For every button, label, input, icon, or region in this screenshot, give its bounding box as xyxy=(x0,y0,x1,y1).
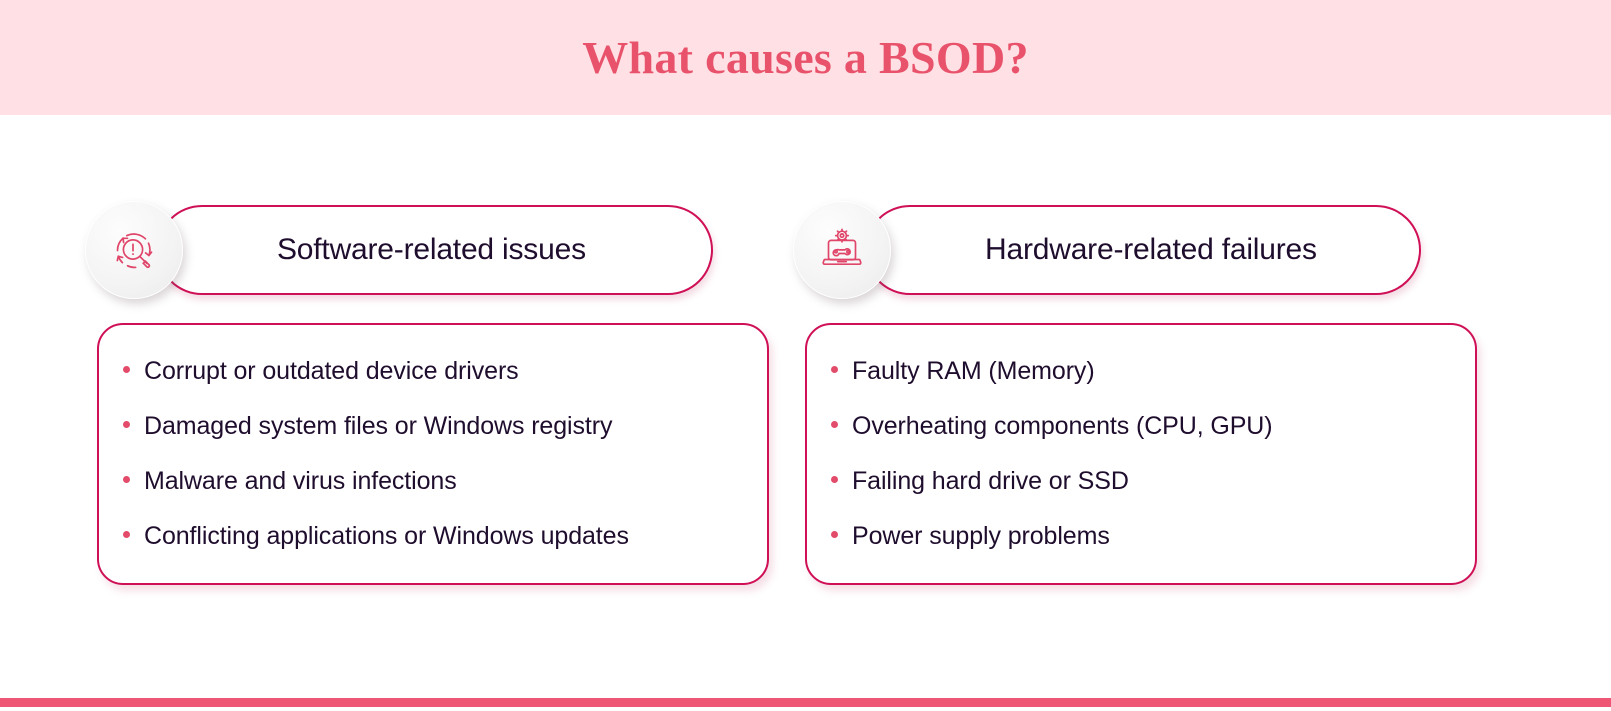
bullet-dot-icon xyxy=(831,366,838,373)
list-item: Damaged system files or Windows registry xyxy=(123,414,733,439)
list-item-label: Overheating components (CPU, GPU) xyxy=(852,414,1272,439)
bottom-accent-bar xyxy=(0,698,1611,707)
causes-list-software: Corrupt or outdated device drivers Damag… xyxy=(123,359,733,549)
list-item: Faulty RAM (Memory) xyxy=(831,359,1441,384)
list-item: Corrupt or outdated device drivers xyxy=(123,359,733,384)
laptop-wrench-gear-icon xyxy=(793,201,891,299)
header-band: What causes a BSOD? xyxy=(0,0,1611,115)
column-hardware: Hardware-related failures Faulty RAM (Me… xyxy=(793,115,1513,585)
bullet-dot-icon xyxy=(123,366,130,373)
causes-card-hardware: Faulty RAM (Memory) Overheating componen… xyxy=(805,323,1477,585)
list-item-label: Conflicting applications or Windows upda… xyxy=(144,524,629,549)
infographic-canvas: What causes a BSOD? xyxy=(0,0,1611,711)
bullet-dot-icon xyxy=(123,421,130,428)
columns-container: Software-related issues Corrupt or outda… xyxy=(0,115,1611,690)
list-item-label: Faulty RAM (Memory) xyxy=(852,359,1095,384)
scan-alert-magnifier-icon xyxy=(85,201,183,299)
bullet-dot-icon xyxy=(123,531,130,538)
category-label-software: Software-related issues xyxy=(277,233,586,267)
category-label-hardware: Hardware-related failures xyxy=(985,233,1317,267)
column-software: Software-related issues Corrupt or outda… xyxy=(85,115,805,585)
causes-card-software: Corrupt or outdated device drivers Damag… xyxy=(97,323,769,585)
list-item-label: Damaged system files or Windows registry xyxy=(144,414,612,439)
list-item: Power supply problems xyxy=(831,524,1441,549)
bullet-dot-icon xyxy=(123,476,130,483)
bullet-dot-icon xyxy=(831,421,838,428)
list-item-label: Power supply problems xyxy=(852,524,1110,549)
list-item-label: Malware and virus infections xyxy=(144,469,457,494)
bullet-dot-icon xyxy=(831,476,838,483)
list-item-label: Corrupt or outdated device drivers xyxy=(144,359,519,384)
list-item: Overheating components (CPU, GPU) xyxy=(831,414,1441,439)
list-item: Failing hard drive or SSD xyxy=(831,469,1441,494)
list-item: Conflicting applications or Windows upda… xyxy=(123,524,733,549)
category-header-software[interactable]: Software-related issues xyxy=(157,205,713,295)
page-title: What causes a BSOD? xyxy=(582,35,1029,81)
bullet-dot-icon xyxy=(831,531,838,538)
list-item: Malware and virus infections xyxy=(123,469,733,494)
list-item-label: Failing hard drive or SSD xyxy=(852,469,1129,494)
causes-list-hardware: Faulty RAM (Memory) Overheating componen… xyxy=(831,359,1441,549)
category-header-hardware[interactable]: Hardware-related failures xyxy=(865,205,1421,295)
